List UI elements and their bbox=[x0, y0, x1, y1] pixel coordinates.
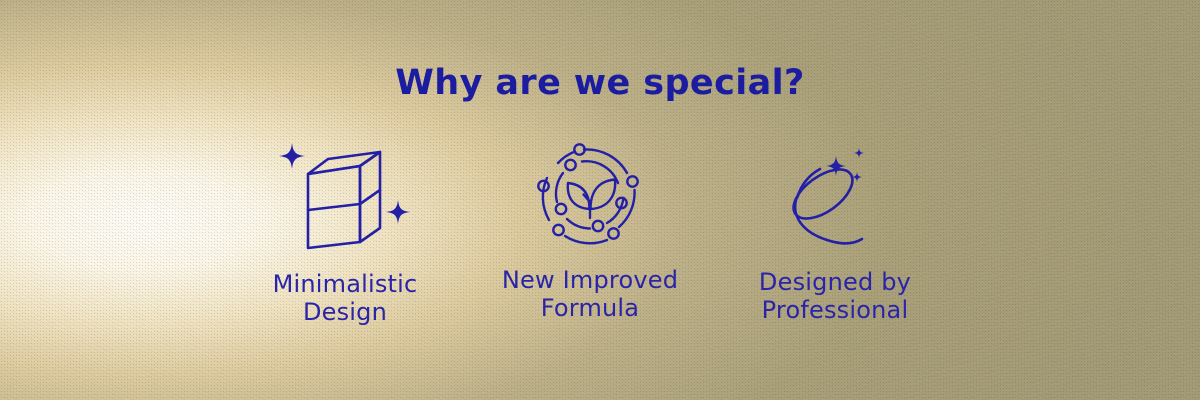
orbit-node bbox=[565, 160, 575, 170]
page-title: Why are we special? bbox=[0, 63, 1200, 103]
orbit-node bbox=[593, 221, 603, 231]
feature-item-designed-by-professional: Designed by Professional bbox=[720, 140, 950, 325]
manicured-nail-sparkle-icon bbox=[780, 140, 890, 250]
feature-label: Minimalistic Design bbox=[273, 270, 418, 327]
banner-content: Why are we special? bbox=[0, 0, 1200, 400]
orbit-node bbox=[553, 225, 563, 235]
sparkle-icon bbox=[386, 200, 410, 224]
feature-icon-wrap bbox=[780, 140, 890, 250]
orbit-node bbox=[556, 204, 566, 214]
feature-icon-wrap bbox=[270, 140, 420, 250]
finger-outline bbox=[795, 200, 862, 243]
3d-box-sparkle-icon bbox=[270, 138, 420, 253]
feature-label: New Improved Formula bbox=[502, 266, 678, 323]
feature-label: Designed by Professional bbox=[759, 268, 911, 325]
feature-item-minimalistic-design: Minimalistic Design bbox=[230, 140, 460, 327]
orbit-node bbox=[608, 228, 618, 238]
feature-banner: Why are we special? bbox=[0, 0, 1200, 400]
feature-item-new-improved-formula: New Improved Formula bbox=[475, 140, 705, 323]
orbit-node bbox=[627, 176, 637, 186]
leaf-orbit-formula-icon bbox=[535, 140, 645, 250]
sparkle-icon bbox=[279, 143, 305, 169]
sparkle-icon bbox=[854, 148, 864, 158]
feature-icon-wrap bbox=[535, 140, 645, 250]
sparkle-icon bbox=[826, 156, 846, 176]
feature-list: Minimalistic Design bbox=[230, 140, 950, 327]
